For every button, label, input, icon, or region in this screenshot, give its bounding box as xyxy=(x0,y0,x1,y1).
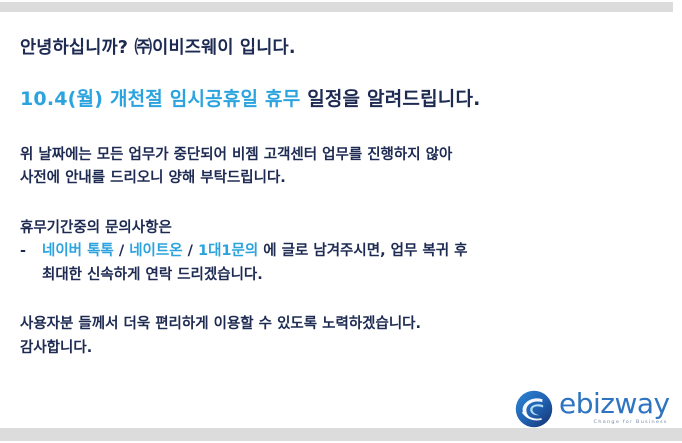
inquiry-line-tail: 에 글로 남겨주시면, 업무 복귀 후 xyxy=(258,243,467,259)
closing-line-2: 감사합니다. xyxy=(20,337,668,360)
list-dash-marker: - xyxy=(20,240,42,263)
notice-line-1: 위 날짜에는 모든 업무가 중단되어 비젬 고객센터 업무를 진행하지 않아 xyxy=(20,144,668,167)
ebizway-swoosh-icon xyxy=(515,390,553,428)
channel-naver-label: 네이버 xyxy=(42,243,82,259)
ebizway-wordmark: ebizway xyxy=(559,390,670,418)
inquiry-channels-line: -네이버 톡톡 / 네이트온 / 1대1문의 에 글로 남겨주시면, 업무 복귀… xyxy=(20,240,668,263)
notice-line-2: 사전에 안내를 드리오니 양해 부탁드립니다. xyxy=(20,167,668,190)
notice-page: 안녕하십니까? ㈜이비즈웨이 입니다. 10.4(월) 개천절 임시공휴일 휴무… xyxy=(0,0,682,443)
channel-naver-talktalk[interactable]: 톡톡 xyxy=(87,243,114,259)
closing-line-1: 사용자분 들께서 더욱 편리하게 이용할 수 있도록 노력하겠습니다. xyxy=(20,313,668,336)
inquiry-followup-text: 최대한 신속하게 연락 드리겠습니다. xyxy=(42,267,263,283)
ebizway-tagline: Change for Business xyxy=(594,421,668,426)
closing-paragraph: 사용자분 들께서 더욱 편리하게 이용할 수 있도록 노력하겠습니다. 감사합니… xyxy=(20,313,668,360)
headline-highlight: 10.4(월) 개천절 임시공휴일 휴무 xyxy=(20,88,300,110)
channel-one-to-one-inquiry[interactable]: 1대1문의 xyxy=(198,243,258,259)
channel-separator-2: / xyxy=(188,243,193,259)
headline-rest: 일정을 알려드립니다. xyxy=(300,88,480,110)
greeting-line: 안녕하십니까? ㈜이비즈웨이 입니다. xyxy=(20,38,668,60)
channel-separator-1: / xyxy=(119,243,124,259)
notice-content: 안녕하십니까? ㈜이비즈웨이 입니다. 10.4(월) 개천절 임시공휴일 휴무… xyxy=(20,38,668,360)
notice-paragraph: 위 날짜에는 모든 업무가 중단되어 비젬 고객센터 업무를 진행하지 않아 사… xyxy=(20,144,668,191)
channel-nateon[interactable]: 네이트온 xyxy=(129,243,182,259)
inquiry-paragraph: 휴무기간중의 문의사항은 -네이버 톡톡 / 네이트온 / 1대1문의 에 글로… xyxy=(20,217,668,287)
headline: 10.4(월) 개천절 임시공휴일 휴무 일정을 알려드립니다. xyxy=(20,88,668,112)
inquiry-followup-line: 최대한 신속하게 연락 드리겠습니다. xyxy=(20,264,668,287)
bottom-divider-bar xyxy=(0,428,682,441)
ebizway-wordmark-wrap: ebizway Change for Business xyxy=(559,390,670,427)
inquiry-heading: 휴무기간중의 문의사항은 xyxy=(20,217,668,240)
ebizway-logo: ebizway Change for Business xyxy=(515,390,670,428)
top-divider-bar xyxy=(0,2,673,12)
